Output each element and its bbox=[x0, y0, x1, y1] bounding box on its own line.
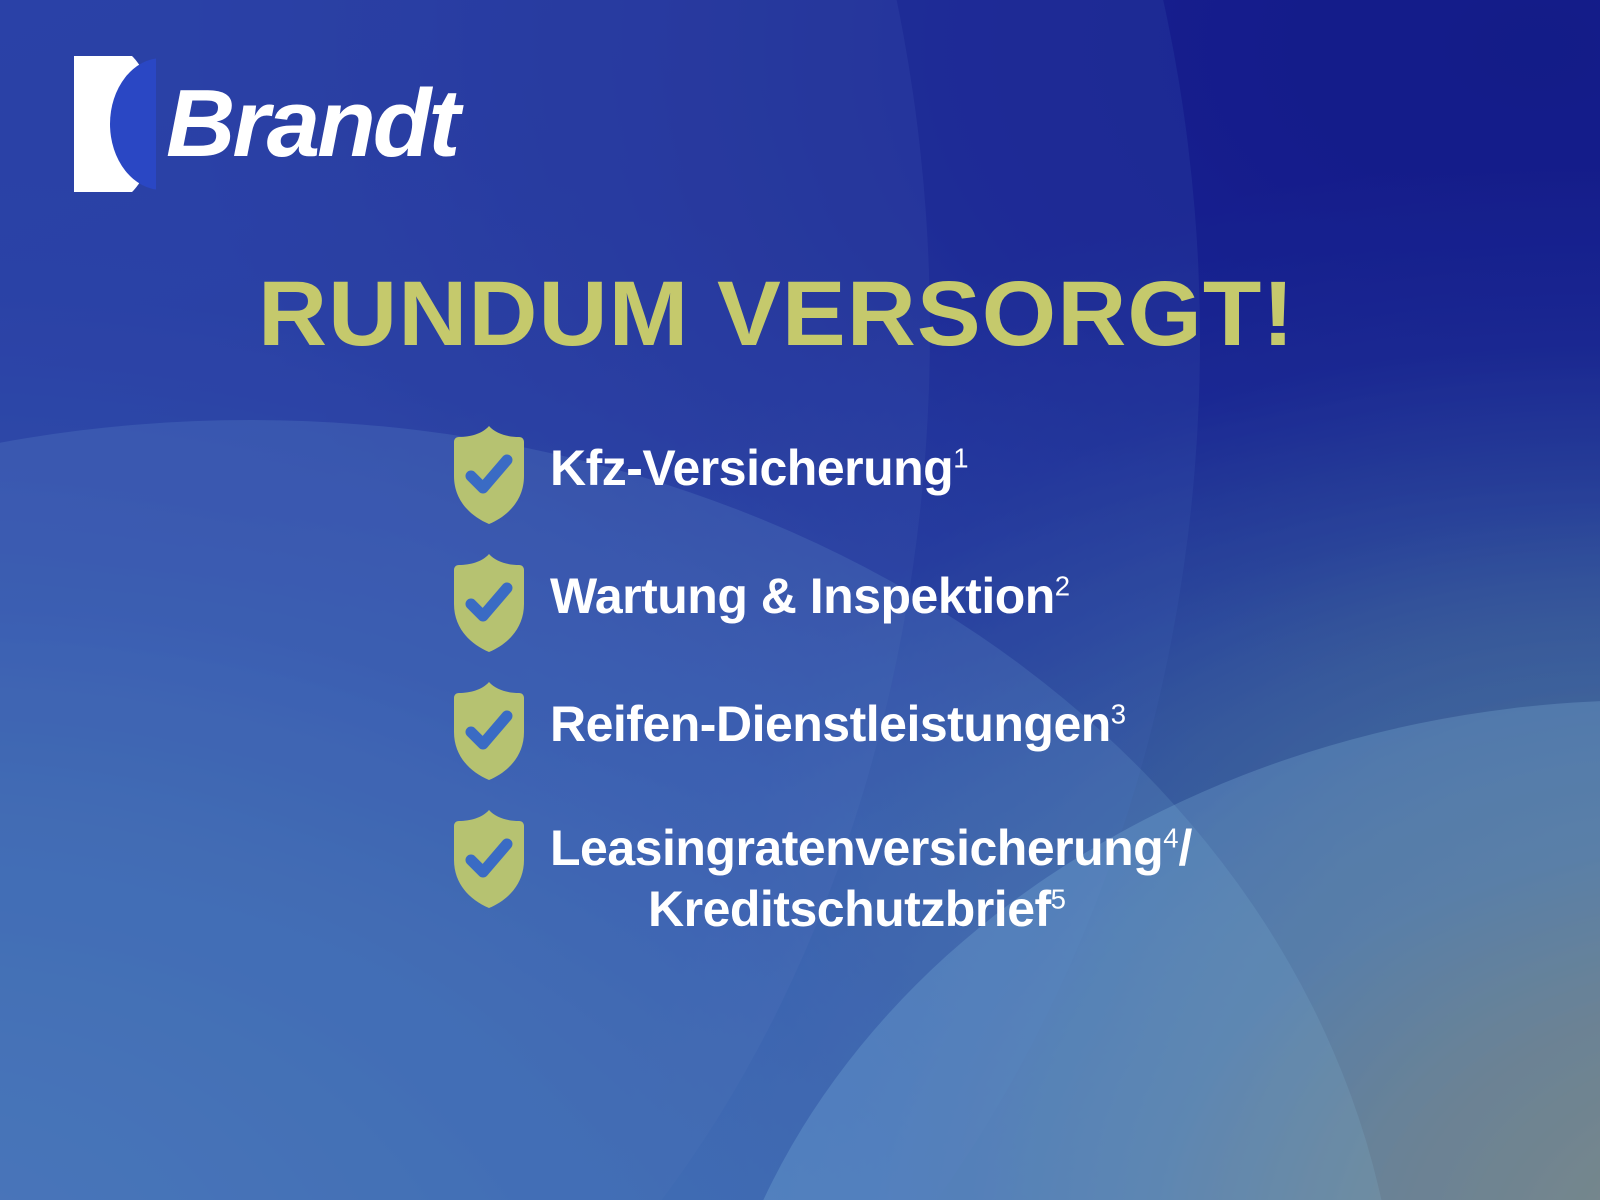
benefit-label: Reifen-Dienstleistungen3 bbox=[452, 676, 1512, 755]
list-item: Leasingratenversicherung4/Kreditschutzbr… bbox=[452, 804, 1512, 940]
brandt-bracket-icon bbox=[74, 56, 156, 192]
benefit-label: Kfz-Versicherung1 bbox=[452, 420, 1512, 499]
benefit-text-line-2: Kreditschutzbrief5 bbox=[550, 879, 1512, 940]
benefit-text: Wartung & Inspektion bbox=[550, 568, 1055, 624]
benefit-footnote: 3 bbox=[1111, 698, 1126, 729]
benefit-text-continued: Kreditschutzbrief bbox=[648, 881, 1051, 937]
page-title: RUNDUM VERSORGT! bbox=[258, 268, 1295, 360]
benefit-list: Kfz-Versicherung1 Wartung & Inspektion2 … bbox=[452, 420, 1512, 940]
benefit-separator: / bbox=[1179, 820, 1192, 876]
benefit-text: Reifen-Dienstleistungen bbox=[550, 696, 1111, 752]
brand-name: Brandt bbox=[166, 76, 457, 172]
brand-logo: Brandt bbox=[74, 56, 457, 192]
benefit-text: Kfz-Versicherung bbox=[550, 440, 953, 496]
list-item: Kfz-Versicherung1 bbox=[452, 420, 1512, 548]
shield-check-icon bbox=[452, 808, 526, 910]
benefit-label: Leasingratenversicherung4/Kreditschutzbr… bbox=[452, 804, 1512, 940]
shield-check-icon bbox=[452, 424, 526, 526]
benefit-footnote: 1 bbox=[953, 442, 968, 473]
promo-poster: Brandt RUNDUM VERSORGT! Kfz-Versicherung… bbox=[0, 0, 1600, 1200]
benefit-label: Wartung & Inspektion2 bbox=[452, 548, 1512, 627]
benefit-footnote: 2 bbox=[1055, 570, 1070, 601]
list-item: Reifen-Dienstleistungen3 bbox=[452, 676, 1512, 804]
shield-check-icon bbox=[452, 552, 526, 654]
list-item: Wartung & Inspektion2 bbox=[452, 548, 1512, 676]
benefit-footnote: 4 bbox=[1163, 822, 1178, 853]
shield-check-icon bbox=[452, 680, 526, 782]
benefit-text: Leasingratenversicherung bbox=[550, 820, 1163, 876]
benefit-footnote-2: 5 bbox=[1051, 883, 1066, 914]
